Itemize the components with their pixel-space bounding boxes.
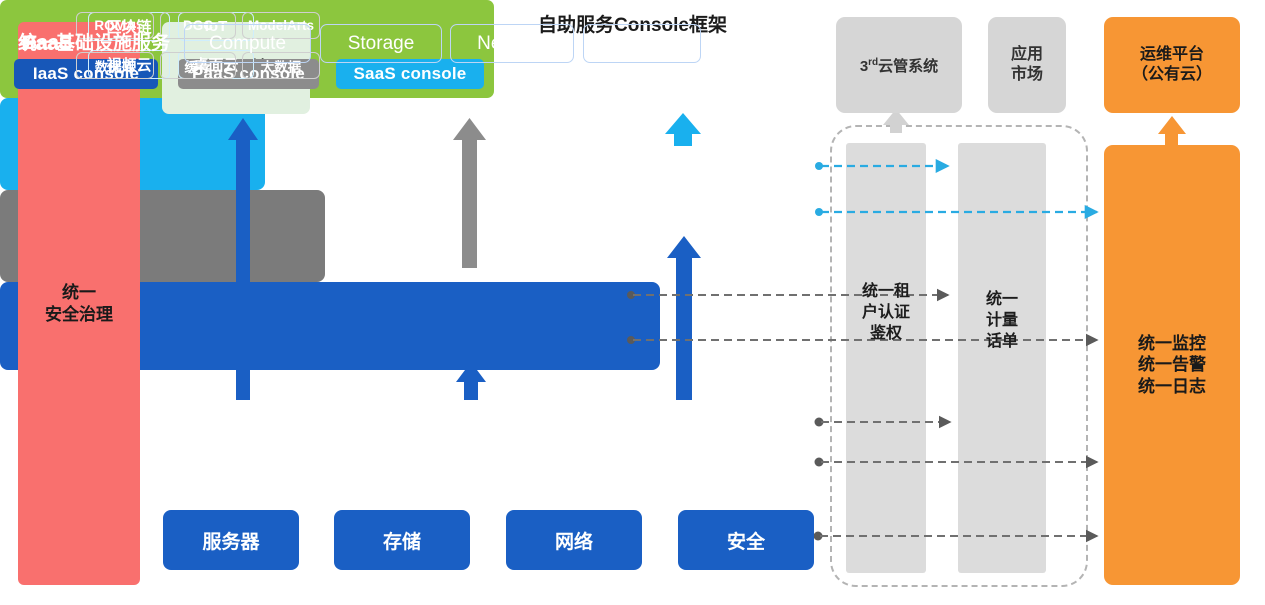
unified-tenant-auth-label: 统一租 户认证 鉴权 — [846, 282, 926, 344]
app-market-box[interactable]: 应用 市场 — [988, 17, 1066, 113]
column-unified-metering — [958, 143, 1046, 573]
architecture-diagram: 统一 安全治理 API网关 自助服务Console框架 IaaS console… — [0, 0, 1265, 605]
hardware-item-storage[interactable]: 存储 — [334, 510, 470, 570]
hardware-item-security[interactable]: 安全 — [678, 510, 814, 570]
arrow-saas-to-console — [665, 113, 701, 146]
ops-monitoring-box[interactable]: 统一监控 统一告警 统一日志 — [1104, 145, 1240, 585]
paas-chip-database[interactable]: 数据库 — [76, 52, 154, 79]
ops-monitoring-label: 统一监控 统一告警 统一日志 — [1138, 333, 1206, 397]
saas-console-pill[interactable]: SaaS console — [336, 59, 484, 89]
security-governance-label: 统一 安全治理 — [45, 282, 113, 325]
hardware-item-server[interactable]: 服务器 — [163, 510, 299, 570]
infra-chip-compute[interactable]: Compute — [184, 24, 311, 63]
infra-chip-storage[interactable]: Storage — [320, 24, 442, 63]
app-market-label: 应用 市场 — [1011, 45, 1043, 85]
ops-platform-top-label: 运维平台 （公有云） — [1132, 45, 1212, 85]
arrow-ops-main-to-ops-top — [1158, 116, 1186, 145]
arrow-infra-to-saas — [667, 236, 701, 400]
column-unified-tenant-auth — [846, 143, 926, 573]
infra-chip-network[interactable]: Network — [450, 24, 574, 63]
unified-infrastructure-label: 统一基础设施服务 — [18, 28, 170, 55]
security-governance-panel[interactable]: 统一 安全治理 — [18, 22, 140, 585]
ops-platform-public-cloud-box[interactable]: 运维平台 （公有云） — [1104, 17, 1240, 113]
third-party-label: 3rd云管系统 — [860, 55, 938, 76]
third-party-cloud-mgmt-box[interactable]: 3rd云管系统 — [836, 17, 962, 113]
hardware-item-network[interactable]: 网络 — [506, 510, 642, 570]
unified-metering-label: 统一 计量 话单 — [958, 290, 1046, 352]
arrow-paas-to-console — [453, 118, 486, 268]
infra-chip-cce[interactable]: CCE — [583, 24, 701, 63]
